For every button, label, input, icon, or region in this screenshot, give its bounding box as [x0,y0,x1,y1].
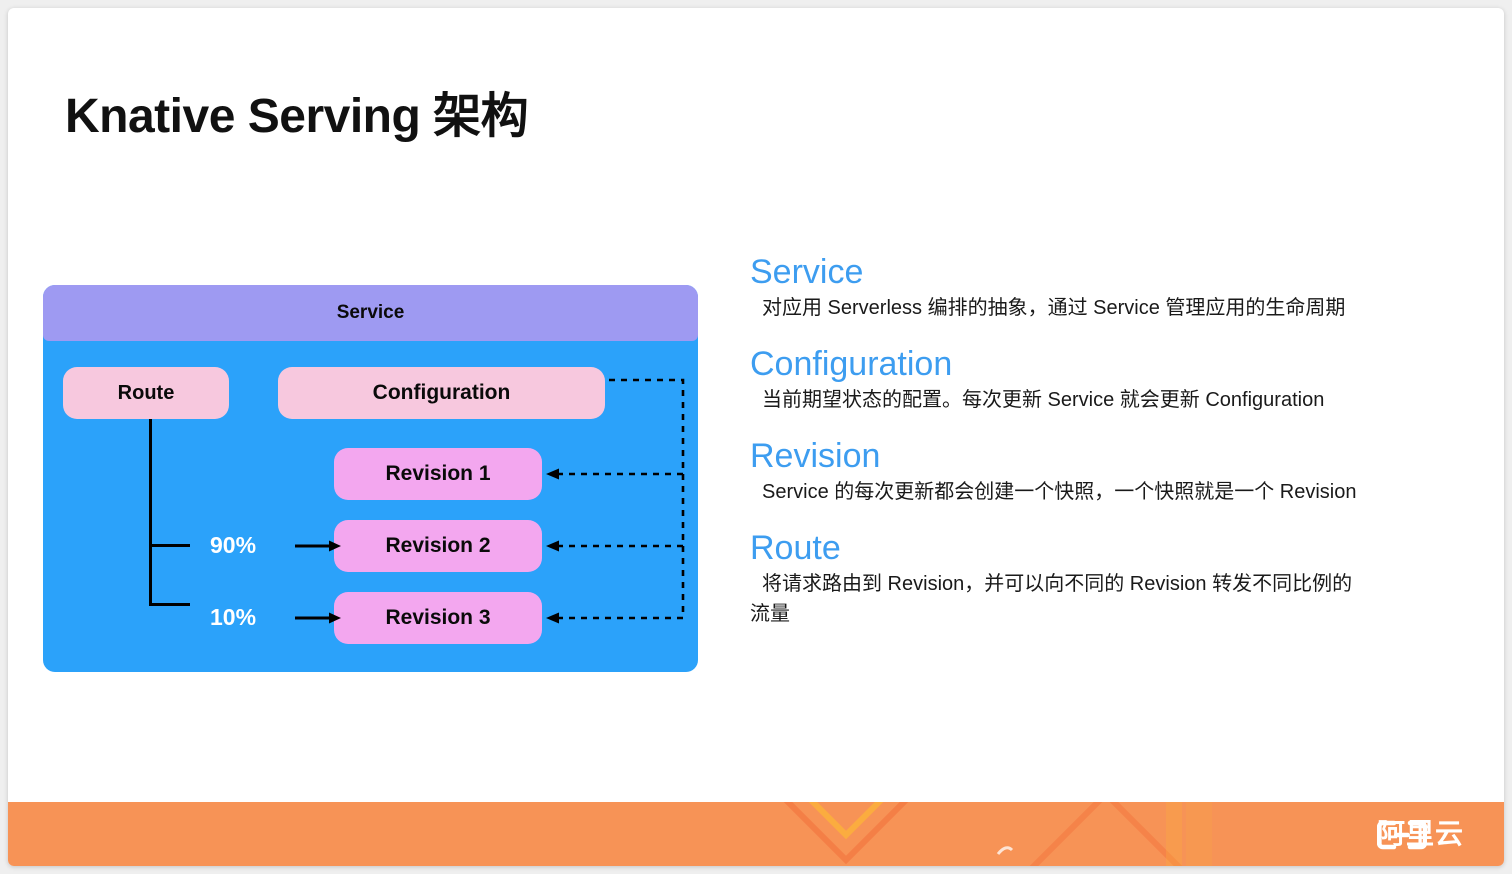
definition-revision-heading: Revision [750,437,1480,475]
footer-bar-accent-2 [1186,802,1212,866]
footer-chevron-pattern [8,802,1504,866]
traffic-split-90-label: 90% [210,532,256,559]
revision-2-box: Revision 2 [334,520,542,572]
definition-revision: Revision Service 的每次更新都会创建一个快照，一个快照就是一个 … [750,437,1480,507]
arrowhead-revision-2 [546,541,559,552]
alibaba-cloud-logo: 阿里云 [1377,820,1464,848]
configuration-box-label: Configuration [373,381,511,405]
definitions-column: Service 对应用 Serverless 编排的抽象，通过 Service … [750,253,1480,651]
footer-bar-accent-1 [1166,802,1182,866]
route-trunk-line [149,419,152,606]
knative-serving-diagram: Service Route Configuration Revision 1 R… [43,285,698,672]
revision-2-label: Revision 2 [385,534,490,558]
configuration-box: Configuration [278,367,605,419]
page-title: Knative Serving 架构 [65,76,528,146]
revision-3-label: Revision 3 [385,606,490,630]
arrowhead-revision-1 [546,469,559,480]
service-band-label: Service [337,302,405,324]
footer-swoosh-mark [998,848,1012,854]
definition-configuration-heading: Configuration [750,345,1480,383]
arrowhead-revision-3 [546,613,559,624]
slide: Knative Serving 架构 Service Route Configu… [8,8,1504,866]
definition-revision-body: Service 的每次更新都会创建一个快照，一个快照就是一个 Revision [750,477,1480,507]
definition-configuration-body: 当前期望状态的配置。每次更新 Service 就会更新 Configuratio… [750,385,1480,415]
definition-service: Service 对应用 Serverless 编排的抽象，通过 Service … [750,253,1480,323]
route-branch-90-line [149,544,190,547]
revision-1-box: Revision 1 [334,448,542,500]
definition-route-body: 将请求路由到 Revision，并可以向不同的 Revision 转发不同比例的… [750,569,1480,629]
definition-service-body: 对应用 Serverless 编排的抽象，通过 Service 管理应用的生命周… [750,293,1480,323]
revision-3-box: Revision 3 [334,592,542,644]
definition-service-heading: Service [750,253,1480,291]
definition-route-body-line2: 流量 [750,599,1480,629]
arrow-right-90-icon [295,539,341,553]
arrow-right-10-icon [295,611,341,625]
footer-bar: 阿里云 [8,802,1504,866]
route-branch-10-line [149,603,190,606]
alibaba-cloud-bracket-icon [1377,820,1427,850]
route-box-label: Route [118,382,175,405]
definition-configuration: Configuration 当前期望状态的配置。每次更新 Service 就会更… [750,345,1480,415]
traffic-split-10-label: 10% [210,604,256,631]
service-band: Service [43,285,698,341]
route-box: Route [63,367,229,419]
definition-route-heading: Route [750,529,1480,567]
revision-1-label: Revision 1 [385,462,490,486]
definition-route-body-line1: 将请求路由到 Revision，并可以向不同的 Revision 转发不同比例的 [762,573,1352,595]
definition-route: Route 将请求路由到 Revision，并可以向不同的 Revision 转… [750,529,1480,629]
